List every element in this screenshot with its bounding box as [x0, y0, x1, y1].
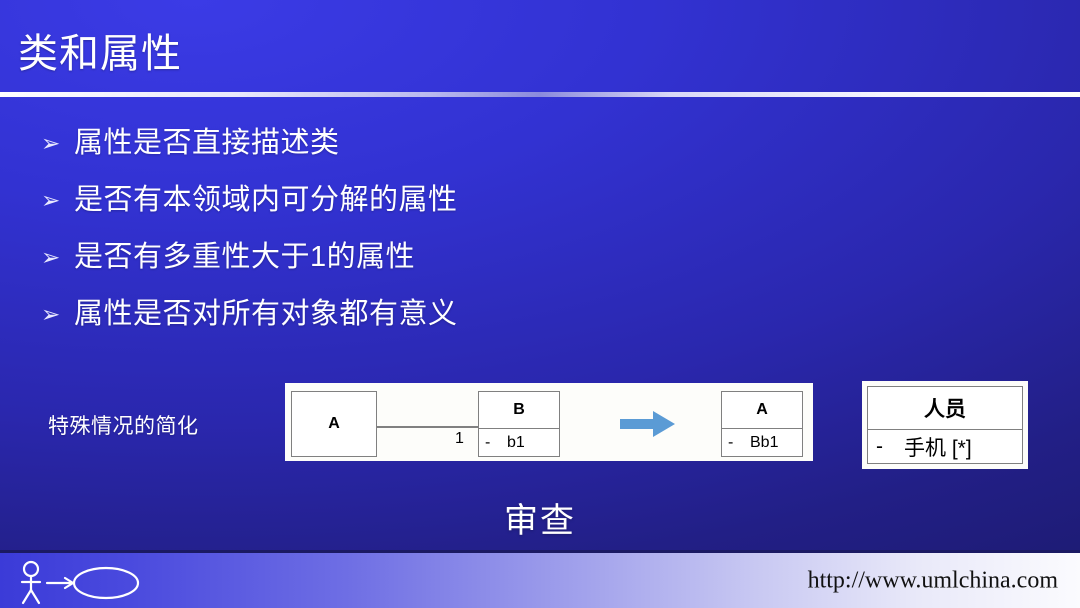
uml-class-b: B - b1: [478, 391, 560, 457]
bullet-arrow-icon: ➢: [38, 183, 74, 217]
right-arrow-icon: [620, 410, 676, 438]
site-url: http://www.umlchina.com: [808, 567, 1058, 594]
bullet-arrow-icon: ➢: [38, 297, 74, 331]
list-item: ➢ 属性是否对所有对象都有意义: [38, 297, 738, 333]
bullet-text: 是否有多重性大于1的属性: [74, 240, 415, 274]
uml-association-line: [377, 426, 478, 428]
uml-class-name: A: [292, 392, 376, 456]
uml-class-name: A: [722, 392, 802, 428]
bullet-list: ➢ 属性是否直接描述类 ➢ 是否有本领域内可分解的属性 ➢ 是否有多重性大于1的…: [38, 126, 738, 354]
bullet-arrow-icon: ➢: [38, 126, 74, 160]
uml-class-a-after: A - Bb1: [721, 391, 803, 457]
uml-class-a-before: A: [291, 391, 377, 457]
uml-attribute-name: Bb1: [750, 434, 778, 452]
review-label: 审查: [0, 493, 1080, 542]
uml-attribute-name: b1: [507, 434, 525, 452]
uml-class-name: 人员: [868, 387, 1022, 429]
title-divider: [0, 92, 1080, 97]
diagram-caption: 特殊情况的简化: [48, 410, 199, 440]
bullet-arrow-icon: ➢: [38, 240, 74, 274]
bullet-text: 属性是否对所有对象都有意义: [74, 297, 458, 331]
list-item: ➢ 是否有多重性大于1的属性: [38, 240, 738, 276]
footer: http://www.umlchina.com: [0, 550, 1080, 608]
slide: 类和属性 ➢ 属性是否直接描述类 ➢ 是否有本领域内可分解的属性 ➢ 是否有多重…: [0, 0, 1080, 608]
uml-attribute-row: - Bb1: [722, 428, 802, 456]
uml-visibility-marker: -: [728, 434, 750, 452]
usecase-diagram-logo-icon: [14, 559, 164, 607]
uml-visibility-marker: -: [876, 435, 904, 459]
uml-attribute-name: 手机 [*]: [904, 432, 972, 462]
uml-visibility-marker: -: [485, 434, 507, 452]
list-item: ➢ 属性是否直接描述类: [38, 126, 738, 162]
list-item: ➢ 是否有本领域内可分解的属性: [38, 183, 738, 219]
uml-attribute-row: - 手机 [*]: [868, 429, 1022, 463]
bullet-text: 是否有本领域内可分解的属性: [74, 183, 458, 217]
uml-multiplicity-label: 1: [455, 430, 464, 448]
uml-attribute-row: - b1: [479, 428, 559, 456]
bullet-text: 属性是否直接描述类: [74, 126, 340, 160]
page-title: 类和属性: [18, 32, 182, 76]
uml-class-person: 人员 - 手机 [*]: [867, 386, 1023, 464]
uml-class-name: B: [479, 392, 559, 428]
